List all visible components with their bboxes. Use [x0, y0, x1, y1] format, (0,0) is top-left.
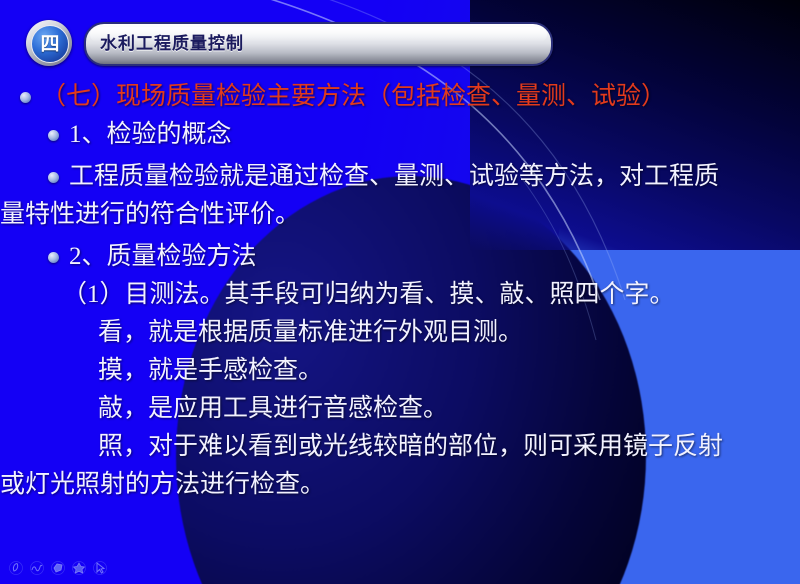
- bullet-marker-icon: [48, 172, 59, 183]
- doodle-star-icon: [71, 560, 87, 576]
- body-line-method-mo: 摸，就是手感检查。: [0, 352, 800, 390]
- body-line-heading-7: （七）现场质量检验主要方法（包括检查、量测、试验）: [0, 78, 800, 116]
- slide-body: （七）现场质量检验主要方法（包括检查、量测、试验）1、检验的概念工程质量检验就是…: [0, 78, 800, 504]
- body-line-method-qiao: 敲，是应用工具进行音感检查。: [0, 390, 800, 428]
- body-text: 或灯光照射的方法进行检查。: [0, 466, 325, 504]
- body-text: 1、检验的概念: [69, 116, 232, 154]
- body-line-para-1-a: 工程质量检验就是通过检查、量测、试验等方法，对工程质: [0, 158, 800, 196]
- body-line-method-kan: 看，就是根据质量标准进行外观目测。: [0, 314, 800, 352]
- bullet-marker-icon: [20, 92, 31, 103]
- bullet-marker-icon: [48, 252, 59, 263]
- section-badge: 四: [26, 20, 72, 66]
- body-text: 工程质量检验就是通过检查、量测、试验等方法，对工程质: [69, 158, 719, 196]
- doodle-leaf-icon: [8, 560, 24, 576]
- body-text: （七）现场质量检验主要方法（包括检查、量测、试验）: [41, 78, 666, 116]
- body-text: 2、质量检验方法: [69, 238, 257, 276]
- slide-canvas: 水利工程质量控制 四 （七）现场质量检验主要方法（包括检查、量测、试验）1、检验…: [0, 0, 800, 584]
- body-line-item-2-1: （1）目测法。其手段可归纳为看、摸、敲、照四个字。: [0, 276, 800, 314]
- body-line-item-2: 2、质量检验方法: [0, 238, 800, 276]
- section-badge-core: 四: [31, 25, 69, 63]
- body-text: 摸，就是手感检查。: [98, 352, 323, 390]
- body-text: （1）目测法。其手段可归纳为看、摸、敲、照四个字。: [62, 276, 675, 314]
- body-line-method-zhao-b: 或灯光照射的方法进行检查。: [0, 466, 800, 504]
- body-line-method-zhao-a: 照，对于难以看到或光线较暗的部位，则可采用镜子反射: [0, 428, 800, 466]
- doodle-cursor-icon: [92, 560, 108, 576]
- page-title: 水利工程质量控制: [100, 29, 244, 54]
- body-text: 看，就是根据质量标准进行外观目测。: [98, 314, 523, 352]
- body-text: 敲，是应用工具进行音感检查。: [98, 390, 448, 428]
- doodle-wave-icon: [29, 560, 45, 576]
- body-text: 量特性进行的符合性评价。: [0, 196, 300, 234]
- doodle-blob-icon: [50, 560, 66, 576]
- body-line-item-1: 1、检验的概念: [0, 116, 800, 154]
- body-text: 照，对于难以看到或光线较暗的部位，则可采用镜子反射: [98, 428, 723, 466]
- body-line-para-1-b: 量特性进行的符合性评价。: [0, 196, 800, 234]
- section-badge-number: 四: [40, 35, 59, 54]
- bullet-marker-icon: [48, 130, 59, 141]
- slide-title-bar: 水利工程质量控制 四: [26, 20, 521, 64]
- decoration-doodle-strip: [8, 560, 108, 576]
